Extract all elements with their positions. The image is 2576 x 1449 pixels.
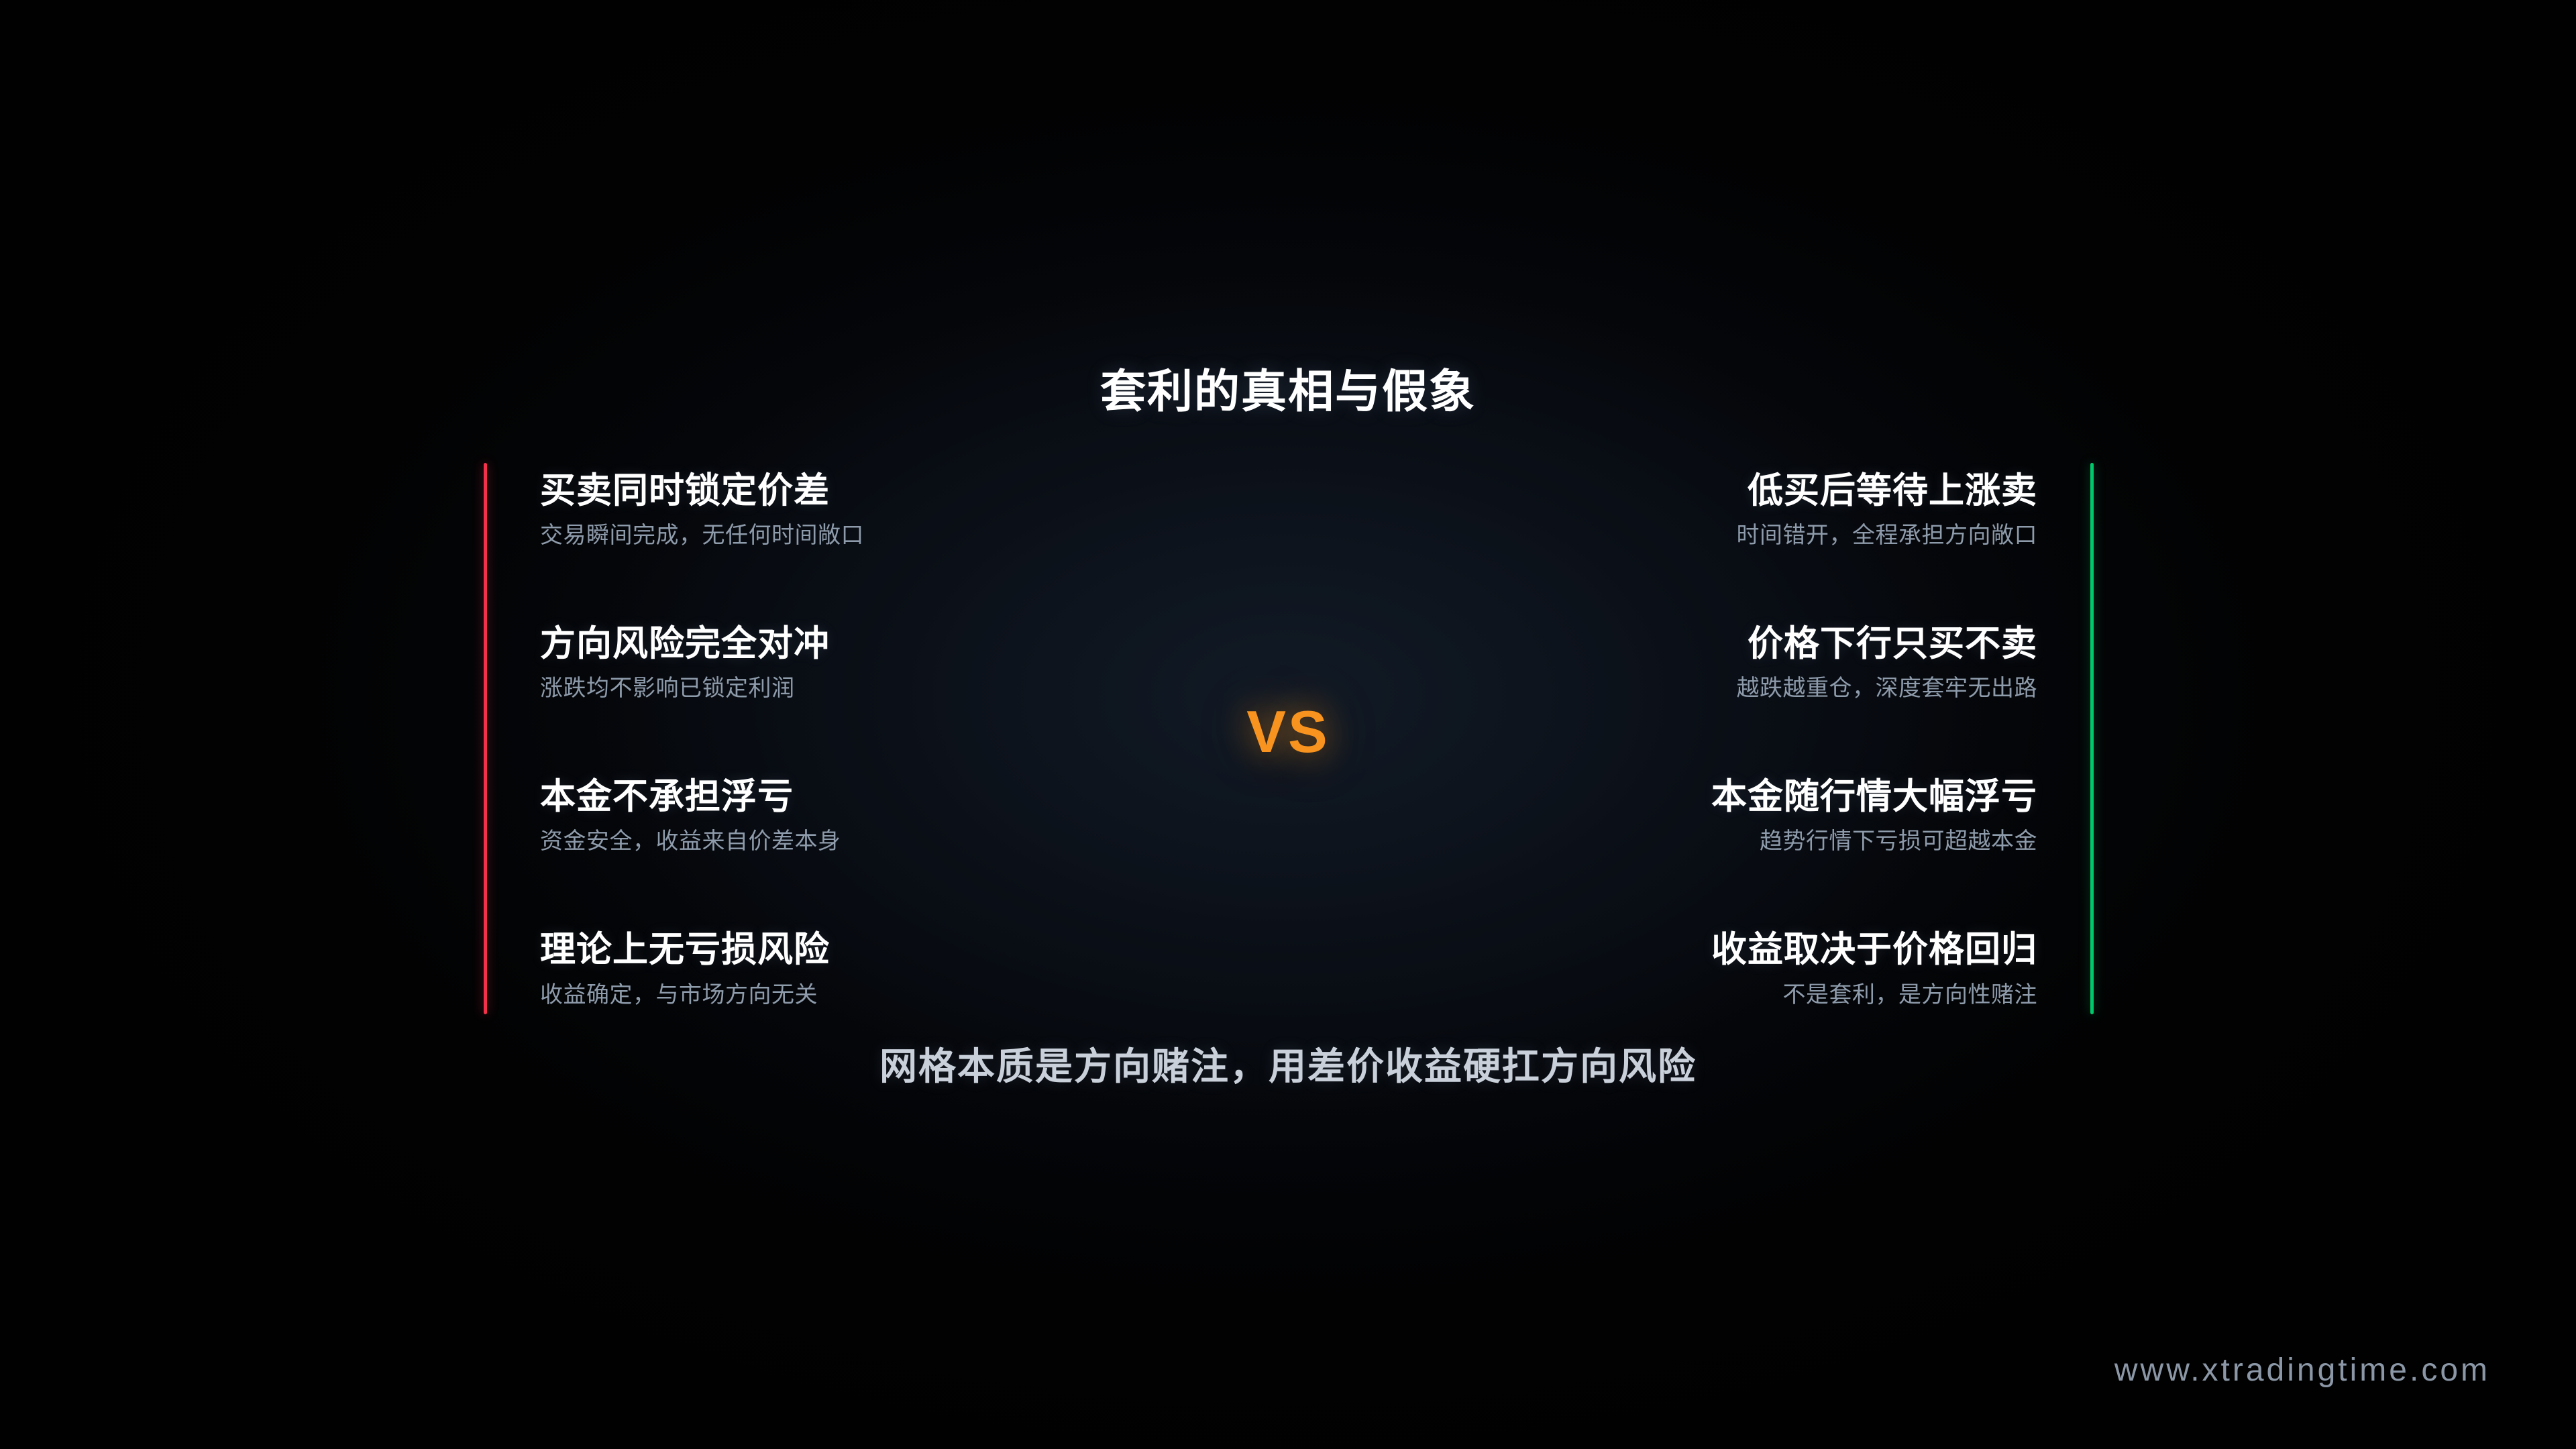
list-item: 价格下行只买不卖 越跌越重仓，深度套牢无出路 <box>1434 625 2037 702</box>
list-item: 本金不承担浮亏 资金安全，收益来自价差本身 <box>540 778 1144 855</box>
list-item: 本金随行情大幅浮亏 趋势行情下亏损可超越本金 <box>1434 778 2037 855</box>
item-title: 价格下行只买不卖 <box>1434 625 2037 663</box>
item-title: 理论上无亏损风险 <box>540 931 1144 969</box>
list-item: 买卖同时锁定价差 交易瞬间完成，无任何时间敞口 <box>540 472 1144 549</box>
list-item: 低买后等待上涨卖 时间错开，全程承担方向敞口 <box>1434 472 2037 549</box>
conclusion-text: 网格本质是方向赌注，用差价收益硬扛方向风险 <box>0 1036 2576 1091</box>
item-subtitle: 趋势行情下亏损可超越本金 <box>1434 829 2037 854</box>
list-item: 收益取决于价格回归 不是套利，是方向性赌注 <box>1434 931 2037 1008</box>
page-title: 套利的真相与假象 <box>0 354 2576 421</box>
item-title: 收益取决于价格回归 <box>1434 931 2037 969</box>
item-title: 方向风险完全对冲 <box>540 625 1144 663</box>
item-title: 本金随行情大幅浮亏 <box>1434 778 2037 816</box>
slide-stage: 套利的真相与假象 买卖同时锁定价差 交易瞬间完成，无任何时间敞口 方向风险完全对… <box>0 0 2576 1449</box>
item-subtitle: 收益确定，与市场方向无关 <box>540 983 1144 1008</box>
item-title: 低买后等待上涨卖 <box>1434 472 2037 510</box>
item-subtitle: 资金安全，收益来自价差本身 <box>540 829 1144 854</box>
watermark-url: www.xtradingtime.com <box>2114 1352 2490 1389</box>
vs-badge: VS <box>0 698 2576 766</box>
item-subtitle: 不是套利，是方向性赌注 <box>1434 983 2037 1008</box>
item-title: 买卖同时锁定价差 <box>540 472 1144 510</box>
item-subtitle: 交易瞬间完成，无任何时间敞口 <box>540 523 1144 548</box>
list-item: 方向风险完全对冲 涨跌均不影响已锁定利润 <box>540 625 1144 702</box>
list-item: 理论上无亏损风险 收益确定，与市场方向无关 <box>540 931 1144 1008</box>
item-title: 本金不承担浮亏 <box>540 778 1144 816</box>
item-subtitle: 时间错开，全程承担方向敞口 <box>1434 523 2037 548</box>
